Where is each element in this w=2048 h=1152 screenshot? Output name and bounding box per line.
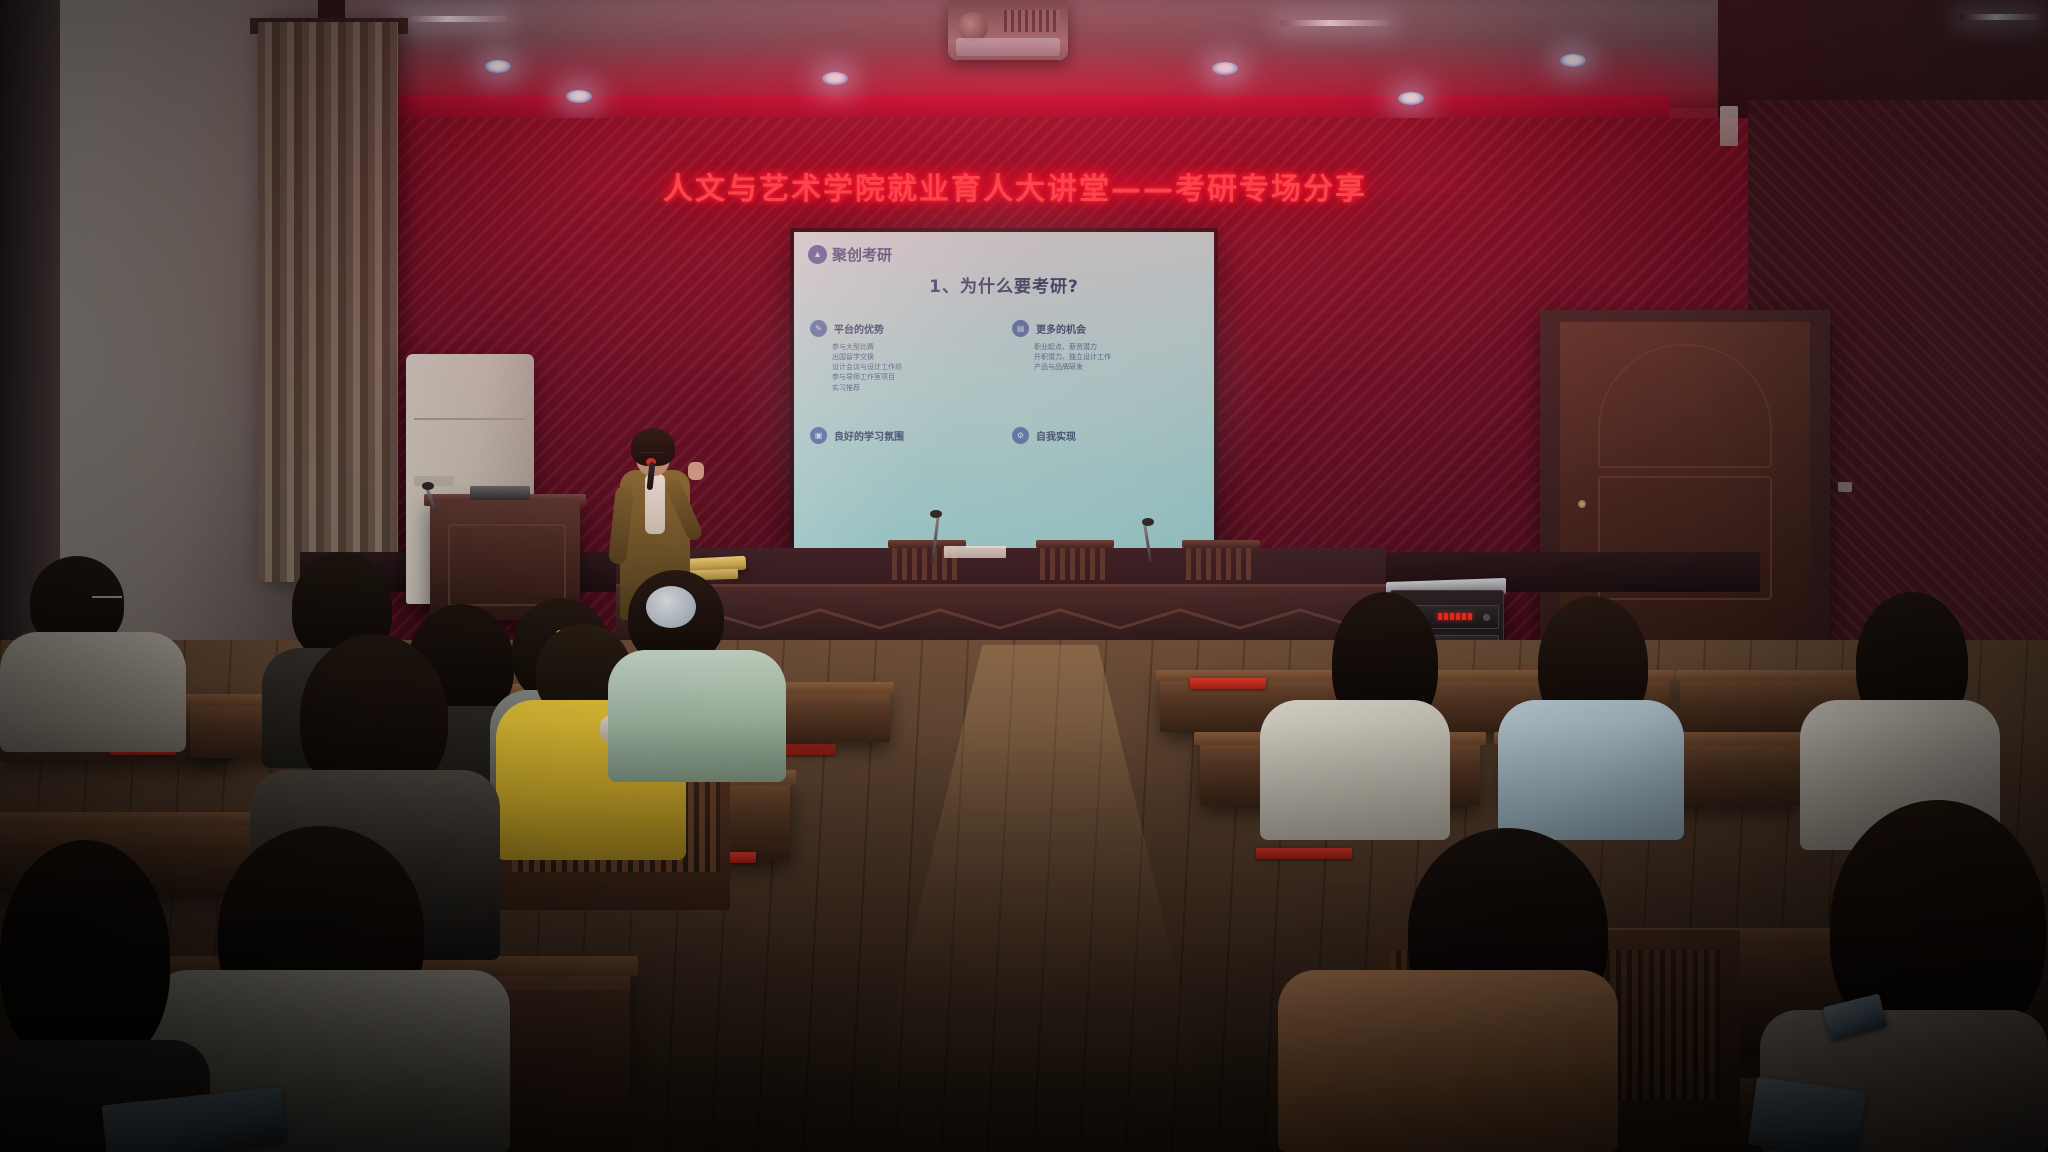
lecture-hall-photo: 人文与艺术学院就业育人大讲堂——考研专场分享 ▲ 聚创考研 1、为什么要考研? …	[0, 0, 2048, 1152]
floor-vignette	[0, 0, 2048, 1152]
